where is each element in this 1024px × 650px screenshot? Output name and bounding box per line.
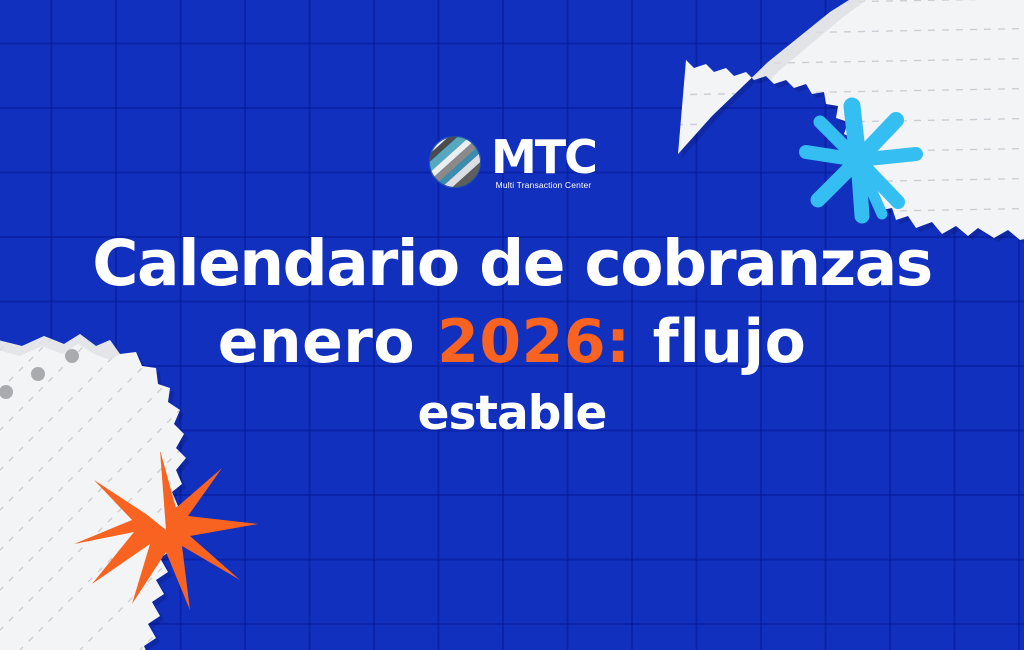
mtc-tagline: Multi Transaction Center — [496, 180, 592, 190]
mtc-sphere-icon — [428, 135, 482, 189]
orange-star-icon — [72, 452, 260, 610]
mtc-logo: MTC Multi Transaction Center — [0, 134, 1024, 190]
headline-line-2: enero2026:flujo — [0, 300, 1024, 384]
mtc-logo-text: MTC Multi Transaction Center — [491, 136, 596, 190]
mtc-wordmark: MTC — [491, 136, 596, 179]
headline-line-3: estable — [0, 386, 1024, 442]
headline-year: 2026: — [437, 300, 631, 384]
torn-paper-top-right — [616, 0, 1024, 264]
headline-block: Calendario de cobranzas enero2026:flujo … — [0, 228, 1024, 442]
headline-month: enero — [218, 300, 415, 384]
poster-canvas: MTC Multi Transaction Center Calendario … — [0, 0, 1024, 650]
headline-line-1: Calendario de cobranzas — [0, 228, 1024, 300]
headline-flujo: flujo — [653, 300, 807, 384]
